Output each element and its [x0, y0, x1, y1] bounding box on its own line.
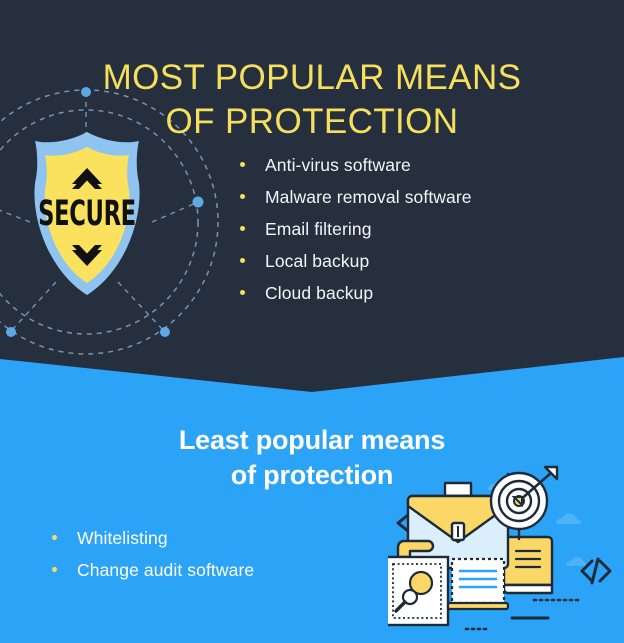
list-item-label: Cloud backup: [265, 283, 373, 303]
list-item: Anti-virus software: [240, 155, 610, 175]
bullet-dot-icon: [52, 567, 57, 572]
shield-label: SECURE: [38, 194, 136, 234]
list-item: Change audit software: [52, 560, 382, 580]
list-item: Cloud backup: [240, 283, 610, 303]
subtitle-line-1: Least popular means: [0, 423, 624, 458]
list-item-label: Local backup: [265, 251, 369, 271]
list-item: Whitelisting: [52, 528, 382, 548]
magnifier-document-icon: [388, 557, 448, 625]
bullet-dot-icon: [240, 162, 245, 167]
bullet-dot-icon: [240, 226, 245, 231]
list-item-label: Email filtering: [265, 219, 372, 239]
list-item-label: Whitelisting: [77, 528, 168, 548]
book-icon: [504, 537, 552, 593]
bullet-dot-icon: [240, 194, 245, 199]
security-tools-illustration: [388, 463, 624, 643]
list-item: Email filtering: [240, 219, 610, 239]
bullet-dot-icon: [240, 290, 245, 295]
shield-icon: SECURE: [0, 92, 212, 342]
list-item: Malware removal software: [240, 187, 610, 207]
code-slash-icon: [582, 559, 610, 583]
list-item-label: Malware removal software: [265, 187, 472, 207]
least-popular-section: Least popular means of protection Whitel…: [0, 360, 624, 643]
bullet-dot-icon: [52, 535, 57, 540]
list-item-label: Change audit software: [77, 560, 254, 580]
list-item-label: Anti-virus software: [265, 155, 411, 175]
most-popular-list: Anti-virus software Malware removal soft…: [240, 155, 610, 315]
laptop-icon: [448, 559, 508, 609]
least-popular-list: Whitelisting Change audit software: [52, 528, 382, 592]
list-item: Local backup: [240, 251, 610, 271]
infographic-poster: Least popular means of protection Whitel…: [0, 0, 624, 643]
bullet-dot-icon: [240, 258, 245, 263]
